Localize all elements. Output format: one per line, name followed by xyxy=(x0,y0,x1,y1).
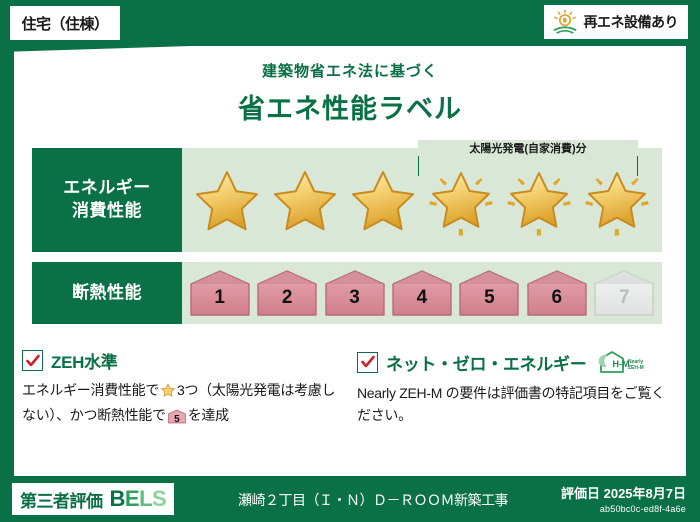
sun-renewable-icon xyxy=(550,9,580,35)
criteria-nze-header: ネット・ゼロ・エネルギー H-M Nearly ZEH-M xyxy=(357,348,678,376)
page-title: 建築物省エネ法に基づく 省エネ性能ラベル xyxy=(0,60,700,126)
house-grade-number: 2 xyxy=(256,287,318,309)
criteria-zeh-text-part1: エネルギー消費性能で xyxy=(22,382,159,398)
star-solar xyxy=(502,163,576,237)
criteria-zeh-text: エネルギー消費性能で3つ（太陽光発電は考慮しない）、かつ断熱性能で5を達成 xyxy=(22,380,343,430)
house-grade-on: 3 xyxy=(324,269,386,317)
house-grade-number: 3 xyxy=(324,287,386,309)
bels-logo: BELS xyxy=(110,486,167,512)
house-grade-number: 4 xyxy=(391,287,453,309)
star-plain xyxy=(190,163,264,237)
house-grade-on: 6 xyxy=(526,269,588,317)
insulation-label-text: 断熱性能 xyxy=(72,282,142,305)
star-rating xyxy=(182,148,662,252)
energy-performance-label: 住宅（住棟） 再エネ設備あり 建築物省エネ法に基づく 省 xyxy=(0,0,700,522)
gold-star-icon xyxy=(160,385,176,401)
energy-row-label: エネルギー 消費性能 xyxy=(32,148,182,252)
criteria-zeh-header: ZEH水準 xyxy=(22,348,343,373)
energy-label-line2: 消費性能 xyxy=(72,200,142,223)
title-main: 省エネ性能ラベル xyxy=(0,87,700,126)
svg-text:H-M: H-M xyxy=(613,359,630,369)
pink-house-icon: 5 xyxy=(168,409,186,431)
evaluation-id: ab50bc0c-ed8f-4a6e xyxy=(561,504,686,514)
criteria-nze-text: Nearly ZEH-M の要件は評価書の特記項目をご覧ください。 xyxy=(357,383,678,426)
footer-bar: 第三者評価 BELS 瀬崎２丁目（Ｉ・Ｎ）Ｄ－ＲＯＯＭ新築工事 評価日 2025… xyxy=(0,476,700,522)
evaluation-date-block: 評価日 2025年8月7日 ab50bc0c-ed8f-4a6e xyxy=(561,483,686,514)
house-type-chip: 住宅（住棟） xyxy=(10,6,120,40)
renewable-badge-label: 再エネ設備あり xyxy=(584,12,679,32)
criteria-nze-title: ネット・ゼロ・エネルギー xyxy=(386,350,586,375)
insulation-row-label: 断熱性能 xyxy=(32,262,182,324)
star-plain xyxy=(346,163,420,237)
check-icon xyxy=(357,352,378,373)
check-icon xyxy=(22,350,43,371)
house-grade-number: 1 xyxy=(189,287,251,309)
criteria-section: ZEH水準 エネルギー消費性能で3つ（太陽光発電は考慮しない）、かつ断熱性能で5… xyxy=(22,348,678,430)
zeh-m-logo-icon: H-M Nearly ZEH-M xyxy=(598,348,652,376)
star-solar xyxy=(580,163,654,237)
energy-performance-row: エネルギー 消費性能 太陽光発電(自家消費)分 xyxy=(32,148,662,252)
svg-text:ZEH-M: ZEH-M xyxy=(628,365,644,371)
title-subtitle: 建築物省エネ法に基づく xyxy=(0,60,700,81)
house-grade-number: 7 xyxy=(593,287,655,309)
house-grade-on: 4 xyxy=(391,269,453,317)
renewable-equipment-badge: 再エネ設備あり xyxy=(544,5,689,39)
insulation-performance-row: 断熱性能 xyxy=(32,262,662,324)
house-grade-off: 7 xyxy=(593,269,655,317)
house-grade-number: 6 xyxy=(526,287,588,309)
insulation-row-body: 1 2 3 xyxy=(182,262,662,324)
insulation-grade-scale: 1 2 3 xyxy=(182,262,662,324)
house-grade-on: 5 xyxy=(458,269,520,317)
project-name: 瀬崎２丁目（Ｉ・Ｎ）Ｄ－ＲＯＯＭ新築工事 xyxy=(238,490,508,510)
energy-row-body: 太陽光発電(自家消費)分 xyxy=(182,148,662,252)
criteria-zeh: ZEH水準 エネルギー消費性能で3つ（太陽光発電は考慮しない）、かつ断熱性能で5… xyxy=(22,348,343,430)
energy-label-line1: エネルギー xyxy=(63,177,151,200)
house-type-label: 住宅（住棟） xyxy=(21,13,108,34)
pink-house-icon-value: 5 xyxy=(168,412,186,428)
criteria-nze: ネット・ゼロ・エネルギー H-M Nearly ZEH-M Nearly ZEH… xyxy=(357,348,678,430)
house-grade-on: 1 xyxy=(189,269,251,317)
criteria-zeh-text-part3: を達成 xyxy=(188,407,229,423)
house-grade-on: 2 xyxy=(256,269,318,317)
criteria-zeh-title: ZEH水準 xyxy=(51,348,118,373)
house-grade-number: 5 xyxy=(458,287,520,309)
star-solar xyxy=(424,163,498,237)
star-plain xyxy=(268,163,342,237)
evaluation-date: 評価日 2025年8月7日 xyxy=(561,483,686,502)
third-party-label: 第三者評価 xyxy=(20,487,103,512)
bels-chip: 第三者評価 BELS xyxy=(12,483,174,515)
